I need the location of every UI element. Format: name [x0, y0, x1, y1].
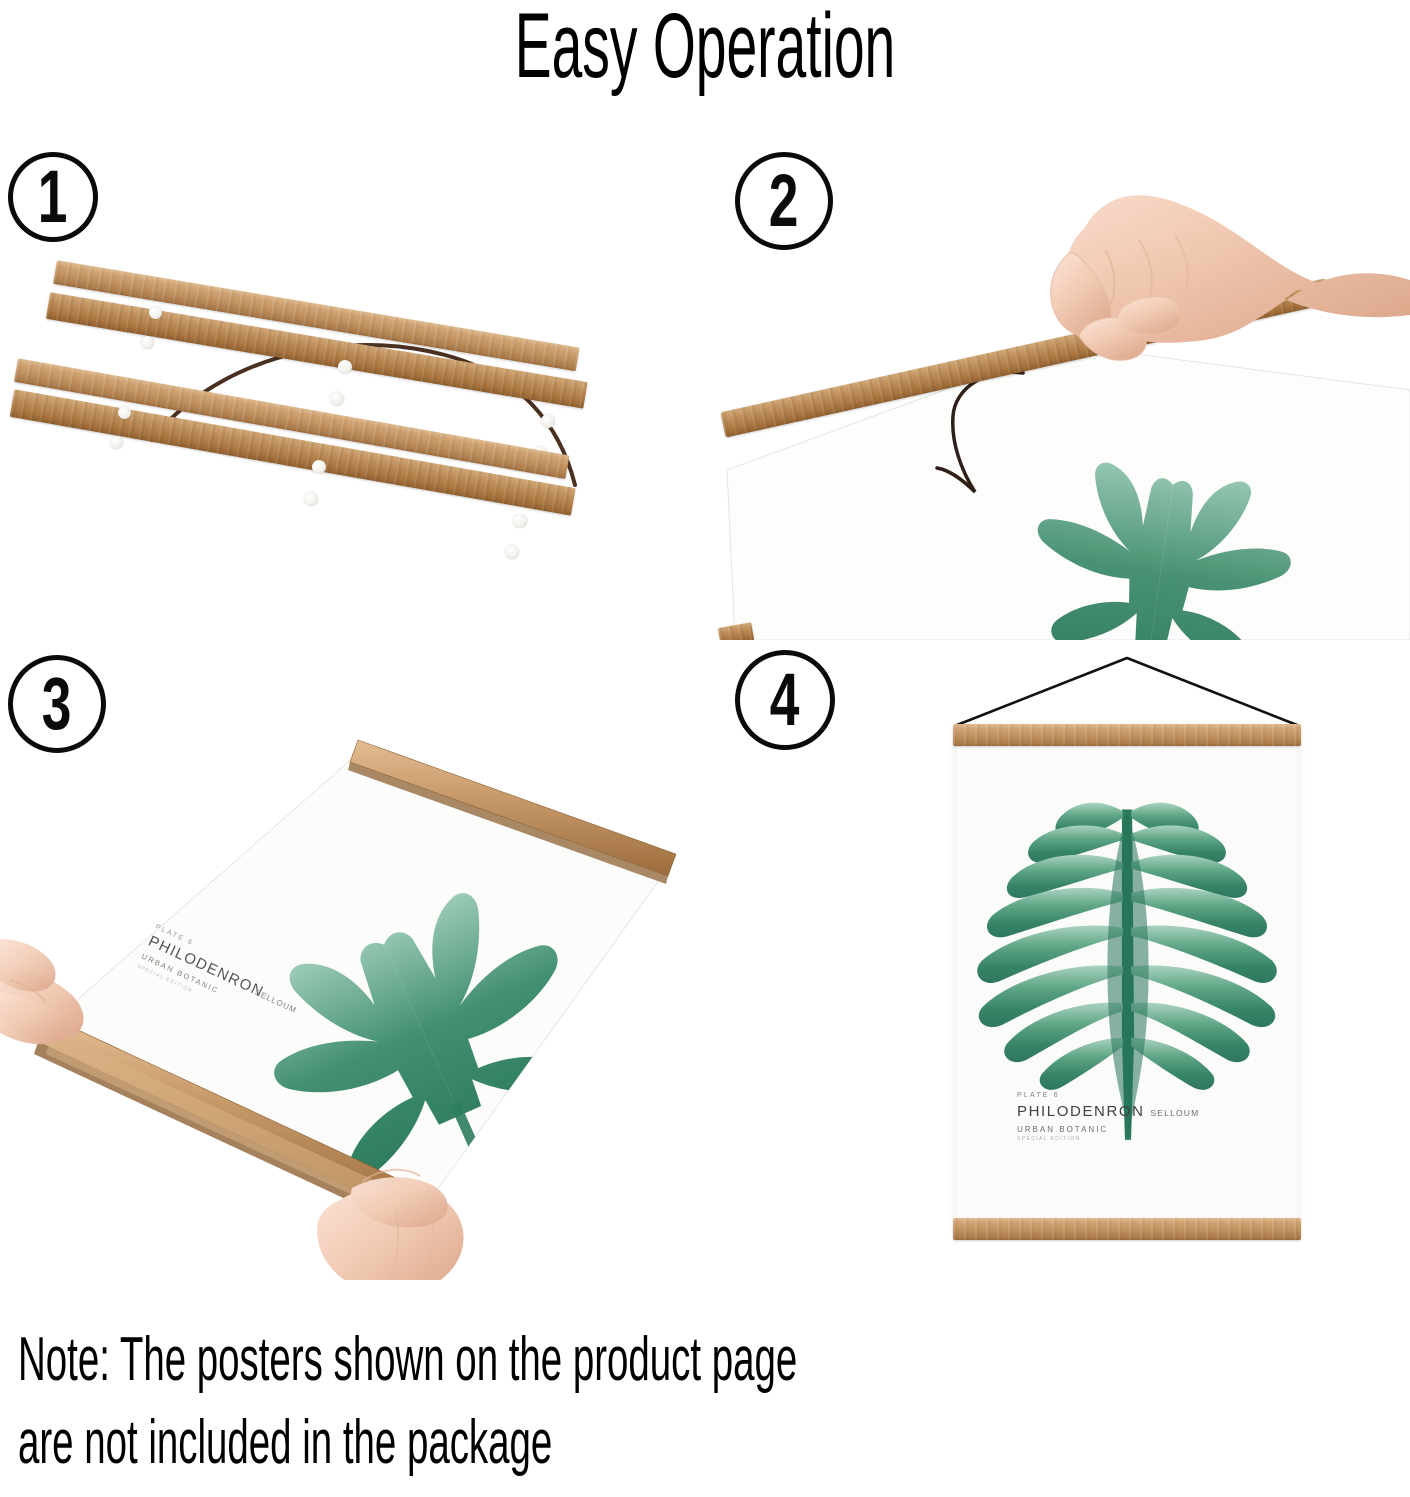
wood-rail-bottom-step4	[953, 1218, 1301, 1240]
note-line-1: Note: The posters shown on the product p…	[18, 1318, 881, 1401]
step-badge-2: 2	[735, 152, 833, 250]
step-badge-1-label: 1	[38, 160, 68, 234]
step-1-illustration	[0, 140, 705, 640]
magnet-dot	[149, 306, 162, 319]
magnet-dot	[513, 514, 527, 528]
magnet-dot	[118, 406, 131, 419]
step-badge-4: 4	[735, 650, 835, 750]
magnet-dot	[304, 492, 318, 506]
page-title: Easy Operation	[282, 0, 1128, 96]
step-3-illustration: PLATE 6 PHILODENRON SELLOUM URBAN BOTANI…	[0, 640, 705, 1280]
poster-plate: PLATE 6	[1017, 1092, 1199, 1099]
poster-brand: URBAN BOTANIC	[1017, 1125, 1199, 1134]
step-badge-3: 3	[8, 655, 106, 753]
magnet-dot	[141, 336, 154, 349]
poster-caption: PLATE 6 PHILODENRON SELLOUM URBAN BOTANI…	[1017, 1092, 1199, 1142]
step-badge-3-label: 3	[42, 667, 72, 741]
poster-species: SELLOUM	[1150, 1108, 1199, 1118]
note-line-2: are not included in the package	[18, 1401, 881, 1484]
poster-edition: SPECIAL EDITION	[1017, 1136, 1199, 1142]
step-badge-2-label: 2	[769, 164, 799, 238]
step-badge-4-label: 4	[770, 663, 800, 737]
magnet-dot	[338, 360, 352, 374]
step-badge-1: 1	[8, 152, 98, 242]
poster-name: PHILODENRON	[1017, 1103, 1145, 1120]
wood-rail-top-step4	[953, 724, 1301, 746]
magnet-dot	[505, 545, 519, 559]
magnet-dot	[312, 460, 326, 474]
magnet-dot	[330, 392, 344, 406]
note-text: Note: The posters shown on the product p…	[18, 1318, 881, 1484]
poster-and-hands-step3: PLATE 6 PHILODENRON SELLOUM URBAN BOTANI…	[0, 640, 705, 1280]
magnet-dot	[110, 436, 123, 449]
magnet-dot	[541, 414, 555, 428]
